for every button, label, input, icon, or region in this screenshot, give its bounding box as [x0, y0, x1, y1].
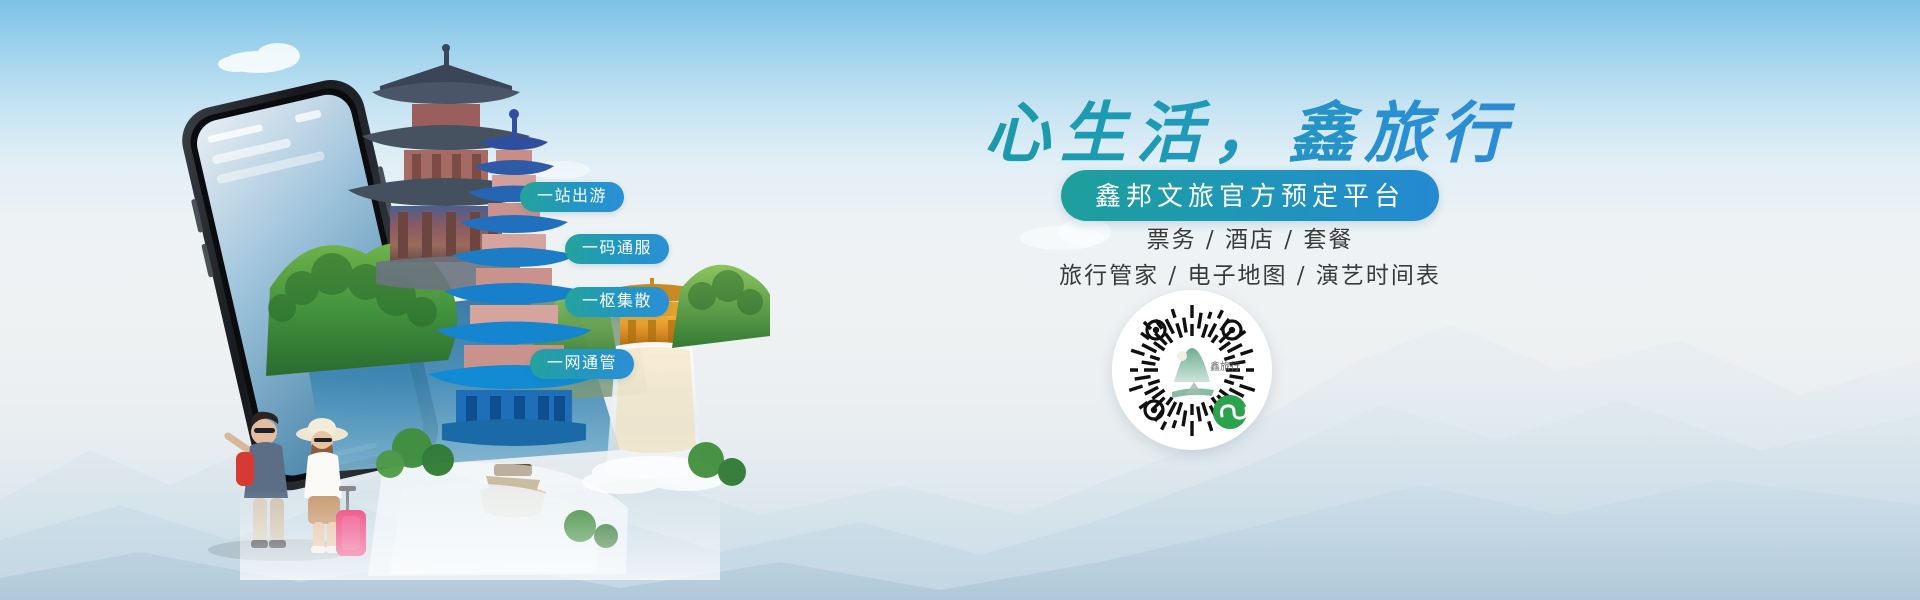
feature-pill-yizhanchuyou[interactable]: 一站出游 — [520, 182, 624, 212]
headline: 心生活，鑫旅行 — [860, 80, 1640, 176]
promo-text-block: 心生活，鑫旅行 鑫邦文旅官方预定平台 票务 / 酒店 / 套餐 旅行管家 / 电… — [860, 60, 1640, 540]
feature-pill-label: 一站出游 — [537, 188, 607, 205]
travel-promo-banner: 一站出游 一码通服 一枢集散 一网通管 心生活，鑫旅行 鑫邦文旅官方预定平台 票… — [0, 0, 1920, 600]
qr-logo-text: 鑫旅行 — [1210, 360, 1240, 373]
brand-pill-wrap: 鑫邦文旅官方预定平台 — [860, 170, 1640, 221]
service-line-1: 票务 / 酒店 / 套餐 — [860, 220, 1640, 254]
feature-pill-yishujisan[interactable]: 一枢集散 — [565, 287, 669, 317]
feature-pill-yiwangtongguan[interactable]: 一网通管 — [530, 349, 634, 379]
feature-pill-label: 一码通服 — [582, 240, 652, 257]
feature-pill-group: 一站出游 一码通服 一枢集散 一网通管 — [520, 182, 820, 442]
wechat-miniprogram-icon — [1213, 395, 1247, 429]
feature-pill-label: 一枢集散 — [582, 293, 652, 310]
feature-pill-yimatongfu[interactable]: 一码通服 — [565, 234, 669, 264]
service-line-2: 旅行管家 / 电子地图 / 演艺时间表 — [860, 256, 1640, 290]
feature-pill-label: 一网通管 — [547, 355, 617, 372]
wechat-miniprogram-qr[interactable]: 鑫旅行 — [1112, 290, 1272, 450]
brand-pill[interactable]: 鑫邦文旅官方预定平台 — [1061, 170, 1439, 221]
